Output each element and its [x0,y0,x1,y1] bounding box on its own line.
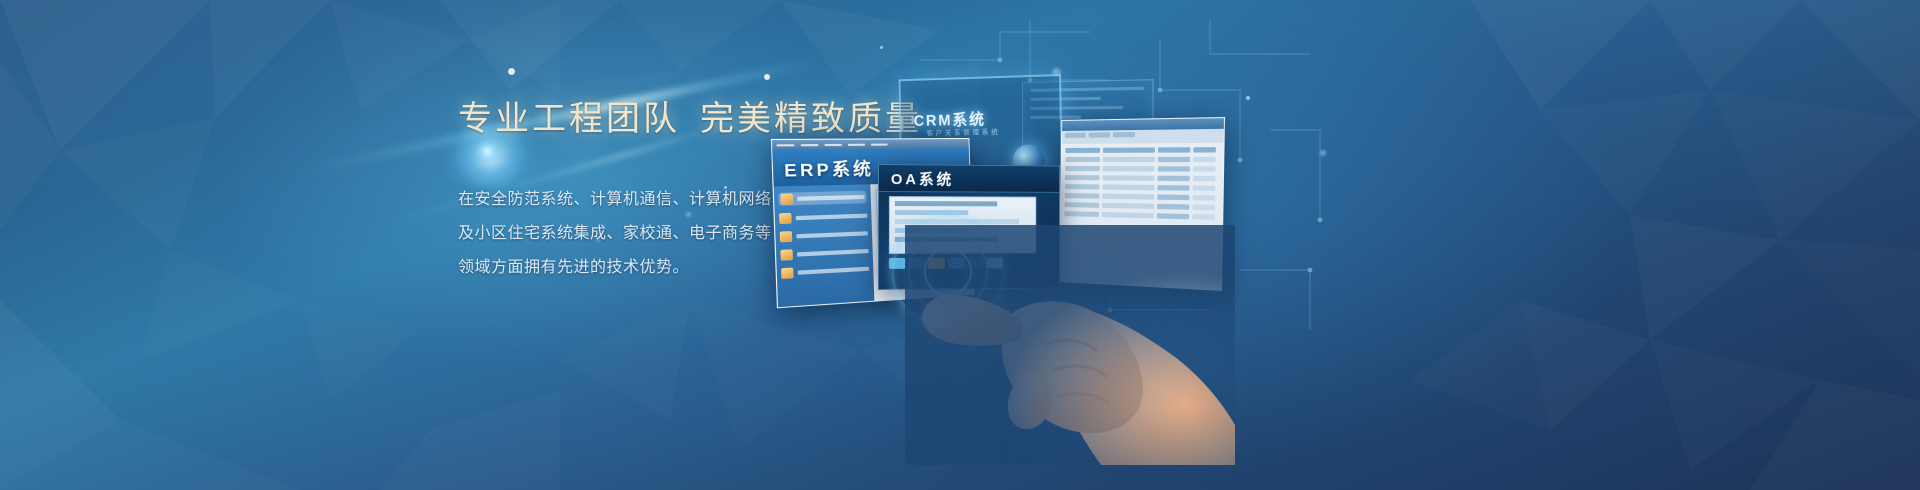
data-report-window[interactable] [1059,117,1225,291]
table-cell [1065,157,1100,162]
oa-window-body [879,192,1059,290]
table-cell [1103,157,1155,162]
sidebar-item[interactable] [781,264,869,279]
table-cell [1065,202,1100,208]
oa-window-header: OA系统 [879,165,1059,193]
table-cell [1157,213,1189,219]
erp-sidebar[interactable] [774,184,875,307]
table-cell [1102,212,1154,218]
table-cell [1193,147,1216,152]
table-cell [1192,185,1215,191]
table-cell [1192,195,1215,201]
table-cell [1103,194,1155,200]
sidebar-item[interactable] [779,210,867,224]
folder-icon [781,268,794,279]
table-cell [1192,214,1215,220]
sidebar-item-label [798,267,870,275]
hero-banner: 专业工程团队完美精致质量 在安全防范系统、计算机通信、计算机网络、智能大厦 及小… [0,0,1920,490]
menu-item[interactable] [825,143,842,145]
oa-document-panel[interactable] [889,196,1036,254]
crm-window-subtitle: 客户关系管理系统 [926,127,1000,138]
table-row [1065,202,1218,210]
toolbar-chip[interactable] [928,258,945,269]
table-cell [1065,148,1100,153]
table-cell [1103,166,1155,171]
table-row [1065,193,1219,201]
menu-item[interactable] [848,143,865,145]
toolbar-chip[interactable] [987,257,1003,268]
table-row [1065,184,1219,191]
table-row [1064,211,1217,220]
table-cell [1193,166,1216,171]
data-grid [1061,143,1224,229]
sidebar-item[interactable] [780,246,868,261]
content-line [895,201,997,206]
sidebar-item[interactable] [778,191,866,206]
table-cell [1157,204,1189,210]
sidebar-item[interactable] [780,228,868,242]
content-line [895,228,968,233]
sidebar-item-label [797,249,869,257]
oa-toolbar-chips[interactable] [889,257,1003,268]
table-cell [1103,147,1155,152]
table-cell [1065,193,1100,199]
folder-icon [780,231,793,242]
toolbar-chip[interactable] [909,258,926,269]
table-cell [1158,176,1190,182]
sidebar-item-label [796,231,868,238]
tab-item[interactable] [1065,133,1086,138]
table-cell [1192,205,1215,211]
table-cell [1192,176,1215,182]
table-cell [1065,166,1100,171]
folder-icon [779,213,792,224]
table-cell [1158,157,1190,162]
menu-item[interactable] [801,143,818,145]
content-line [895,219,1019,224]
window-tabstrip[interactable] [1062,129,1224,144]
table-cell [1064,211,1099,217]
folder-icon [781,194,794,205]
table-cell [1157,185,1189,191]
table-cell [1193,157,1216,162]
toolbar-chip[interactable] [948,258,965,269]
table-header-row [1065,147,1219,153]
headline-part-1: 专业工程团队 [458,100,680,138]
toolbar-chip[interactable] [889,258,906,269]
software-screens-cluster: CRM系统 客户关系管理系统 [760,20,1460,420]
table-cell [1158,147,1190,152]
menu-item[interactable] [871,143,888,145]
tab-item[interactable] [1113,132,1135,137]
table-cell [1103,175,1155,181]
bokeh-dot [508,68,515,75]
tab-item[interactable] [1089,132,1111,137]
table-cell [1065,184,1100,189]
content-line [895,210,968,215]
erp-window-title: ERP系统 [784,154,875,182]
oa-system-window[interactable]: OA系统 [878,164,1060,290]
sidebar-item-label [797,195,864,201]
folder-icon [780,249,793,260]
table-cell [1103,184,1155,190]
table-cell [1065,175,1100,180]
table-cell [1158,166,1190,171]
oa-window-title: OA系统 [891,168,954,189]
content-line [895,237,997,242]
toolbar-chip[interactable] [967,258,983,269]
table-row [1065,157,1219,162]
table-row [1065,175,1219,181]
sidebar-item-label [796,214,868,221]
table-cell [1102,203,1154,209]
table-cell [1157,194,1189,200]
table-row [1065,166,1219,172]
menu-item[interactable] [777,144,795,146]
